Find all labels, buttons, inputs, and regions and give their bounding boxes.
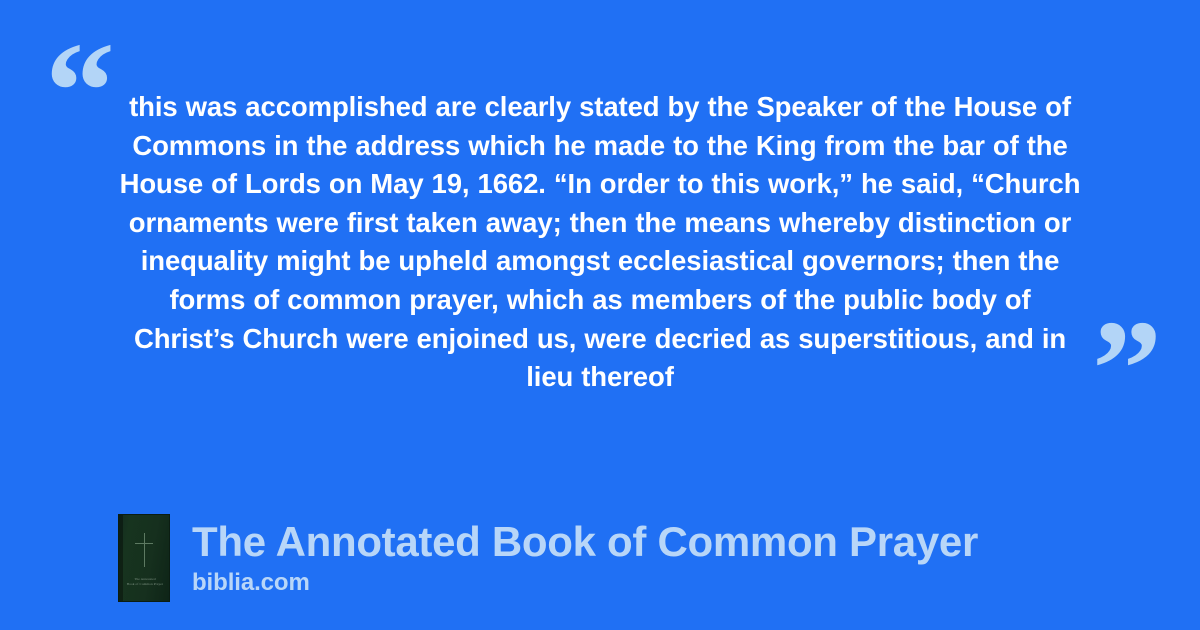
cross-icon	[144, 533, 145, 567]
opening-quote-mark: “	[45, 22, 113, 162]
quote-card: “ this was accomplished are clearly stat…	[0, 0, 1200, 630]
book-cover-title-line-2: Book of Common Prayer	[127, 582, 163, 586]
book-spine	[119, 515, 123, 601]
book-cover-thumbnail: The Annotated Book of Common Prayer	[118, 514, 170, 602]
closing-quote-mark: ”	[1092, 300, 1160, 440]
book-title: The Annotated Book of Common Prayer	[192, 518, 978, 566]
cross-icon-crossbar	[135, 543, 153, 544]
quote-block: “ this was accomplished are clearly stat…	[0, 0, 1200, 460]
site-name: biblia.com	[192, 568, 978, 598]
footer-attribution: The Annotated Book of Common Prayer The …	[118, 514, 978, 602]
quote-text: this was accomplished are clearly stated…	[118, 88, 1082, 397]
footer-text-group: The Annotated Book of Common Prayer bibl…	[192, 518, 978, 598]
book-cover-title-line-1: The Annotated	[134, 577, 155, 581]
book-cover-title: The Annotated Book of Common Prayer	[124, 577, 166, 586]
